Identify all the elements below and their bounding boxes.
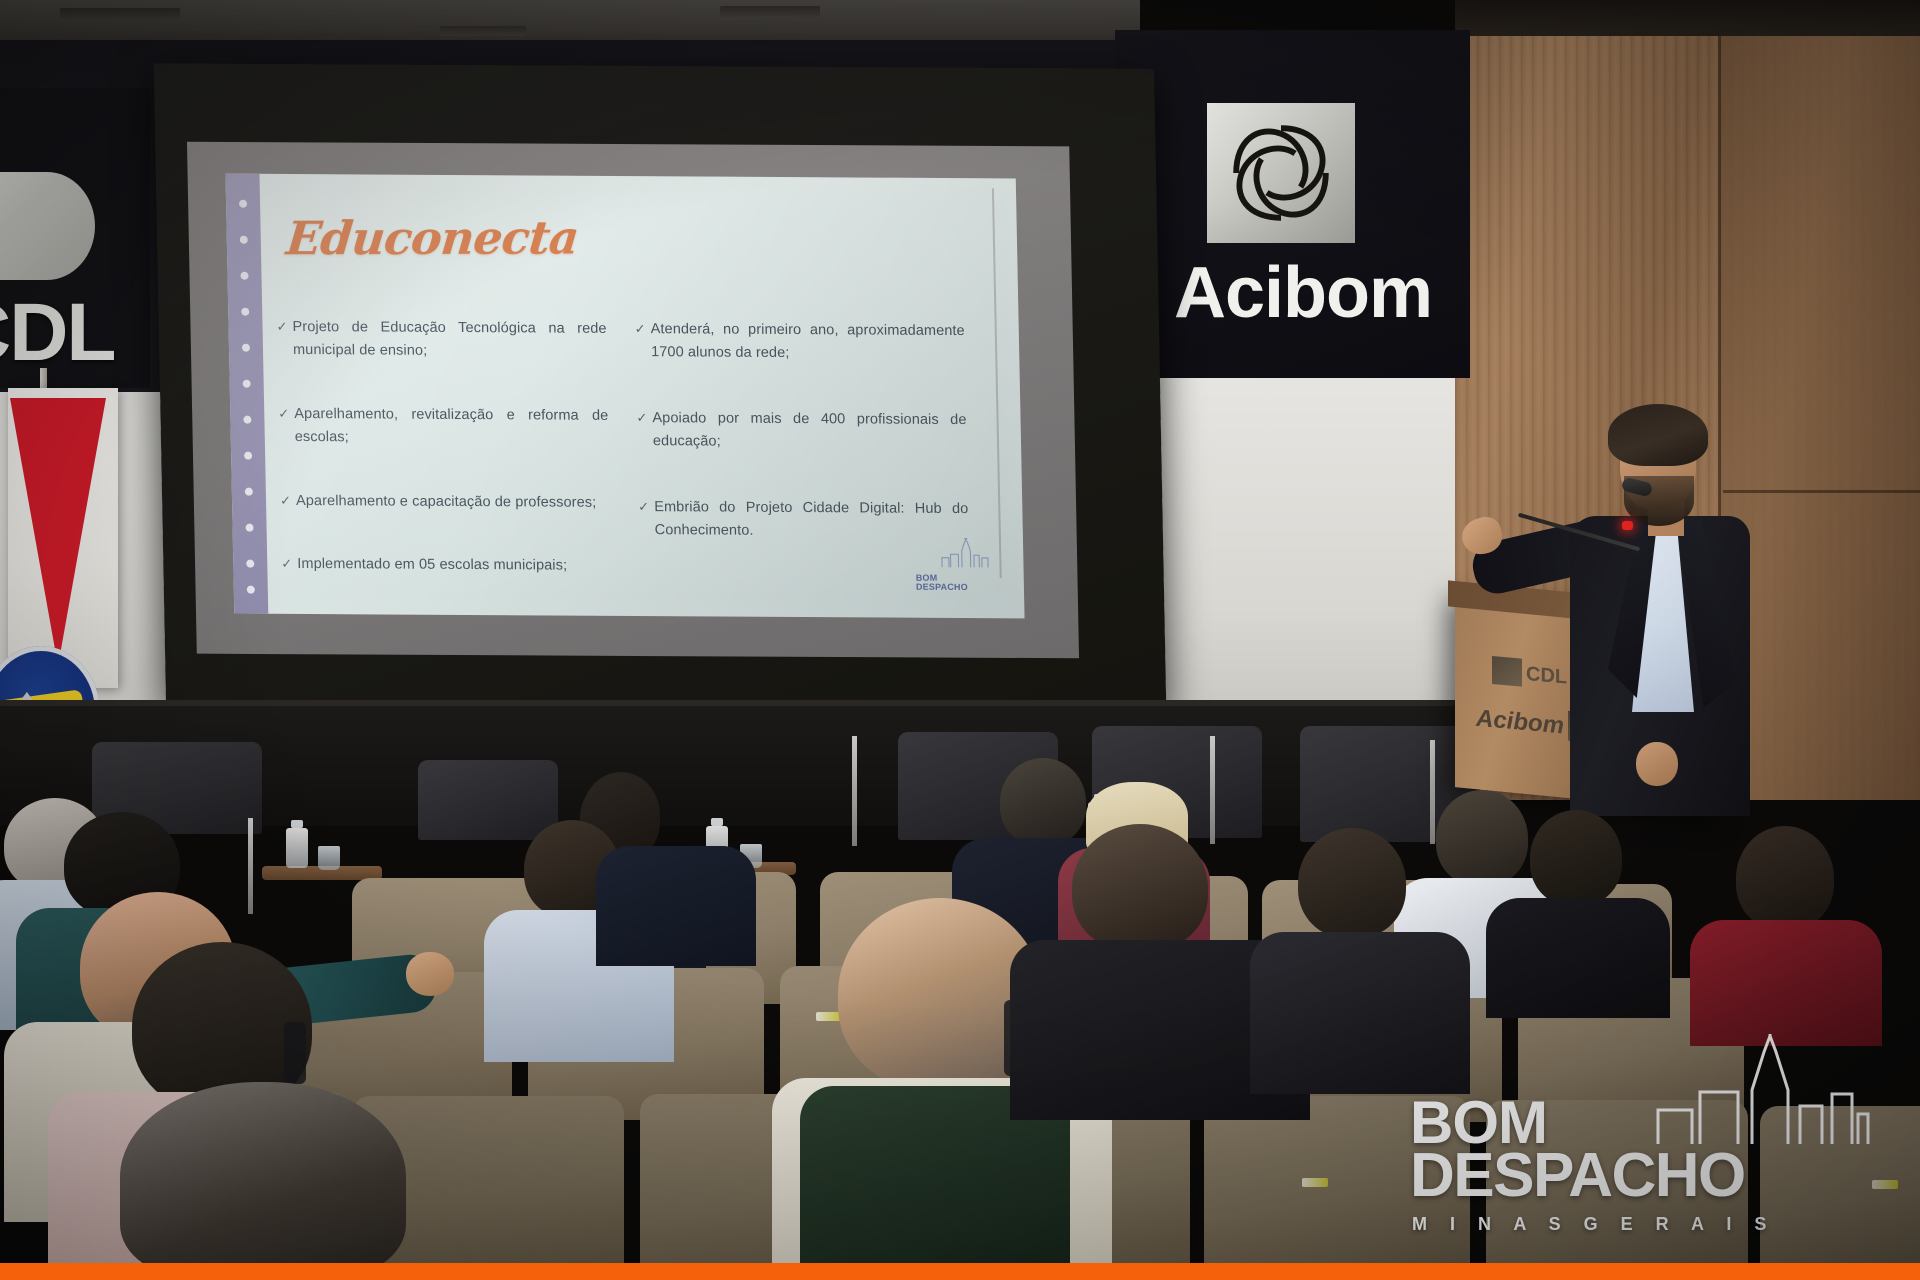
slide-bullet: ✓ Embrião do Projeto Cidade Digital: Hub… (638, 496, 969, 545)
photo-scene: CDL Acibom Ed (0, 0, 1920, 1280)
check-icon: ✓ (634, 318, 646, 365)
acibom-logo-mark-icon (1207, 103, 1355, 243)
slide-bullet: ✓ Aparelhamento e capacitação de profess… (280, 490, 611, 515)
stage-chair (418, 760, 558, 840)
projection-screen: Educonecta ✓ Projeto de Educação Tecnoló… (160, 66, 1190, 726)
presentation-slide: Educonecta ✓ Projeto de Educação Tecnoló… (225, 174, 1024, 619)
slide-title: Educonecta (284, 211, 581, 266)
cdl-logo-mark-icon (0, 172, 95, 280)
wood-wall-panel-strip (1720, 0, 1920, 800)
slide-footer-logo: BOM DESPACHO (905, 540, 998, 597)
bottom-orange-bar (0, 1263, 1920, 1280)
city-watermark: BOM DESPACHO M I N A S G E R A I S (1410, 1038, 1880, 1218)
stage-chair-leg (248, 818, 253, 914)
wood-wall-top-shadow (1455, 0, 1920, 36)
stage-chair-leg (1210, 736, 1215, 844)
check-icon: ✓ (276, 316, 288, 363)
bottle-cap (711, 818, 723, 826)
acibom-sign-label: Acibom (1174, 252, 1432, 334)
cdl-sign-label: CDL (0, 286, 115, 380)
ceiling-vent (720, 6, 820, 17)
slide-vertical-rule (992, 188, 1002, 578)
water-bottle (286, 828, 308, 868)
check-icon: ✓ (636, 407, 648, 454)
skyline-icon (1652, 1034, 1872, 1154)
ceiling-vent (60, 8, 180, 20)
flag-red-triangle-icon (10, 398, 106, 666)
check-icon: ✓ (278, 403, 290, 450)
speaker-hair (1608, 404, 1708, 466)
slide-bullet-text: Apoiado por mais de 400 profissionais de… (652, 407, 967, 456)
slide-bullet-text: Implementado em 05 escolas municipais; (297, 553, 612, 578)
slide-footer-logo-text: BOM DESPACHO (916, 573, 968, 592)
speaker-right-hand (1636, 742, 1678, 786)
watermark-line-2: DESPACHO (1410, 1148, 1745, 1204)
slide-bullet-text: Projeto de Educação Tecnológica na rede … (292, 316, 607, 365)
stage-chair-leg (1430, 740, 1435, 844)
slide-bullet-text: Aparelhamento e capacitação de professor… (296, 490, 611, 515)
podium-cdl-mark-icon (1492, 656, 1522, 687)
microphone-led-indicator (1622, 521, 1633, 530)
slide-body: ✓ Projeto de Educação Tecnológica na red… (276, 316, 982, 618)
seat-tag (1302, 1178, 1328, 1187)
slide-bullet-text: Atenderá, no primeiro ano, aproximadamen… (650, 318, 965, 367)
podium-cdl-label: CDL (1526, 663, 1567, 690)
slide-column-left: ✓ Projeto de Educação Tecnológica na red… (276, 316, 612, 618)
skyline-icon (939, 536, 992, 570)
slide-bullet-text: Embrião do Projeto Cidade Digital: Hub d… (654, 496, 969, 545)
slide-bullet-text: Aparelhamento, revitalização e reforma d… (294, 403, 609, 452)
wood-seam (1723, 490, 1920, 493)
slide-bullet: ✓ Projeto de Educação Tecnológica na red… (276, 316, 607, 365)
slide-bullet: ✓ Implementado em 05 escolas municipais; (281, 553, 612, 578)
check-icon: ✓ (280, 490, 291, 514)
check-icon: ✓ (281, 553, 292, 577)
slide-bullet: ✓ Aparelhamento, revitalização e reforma… (278, 403, 609, 452)
check-icon: ✓ (638, 496, 650, 543)
stage-chair-leg (852, 736, 857, 846)
podium-acibom-label: Acibom (1476, 705, 1564, 741)
watermark-line-3: M I N A S G E R A I S (1412, 1214, 1775, 1235)
slide-bullet: ✓ Atenderá, no primeiro ano, aproximadam… (634, 318, 965, 367)
slide-bullet: ✓ Apoiado por mais de 400 profissionais … (636, 407, 967, 456)
ceiling-vent (440, 26, 526, 36)
bottle-cap (291, 820, 303, 828)
drinking-glass (318, 846, 340, 870)
